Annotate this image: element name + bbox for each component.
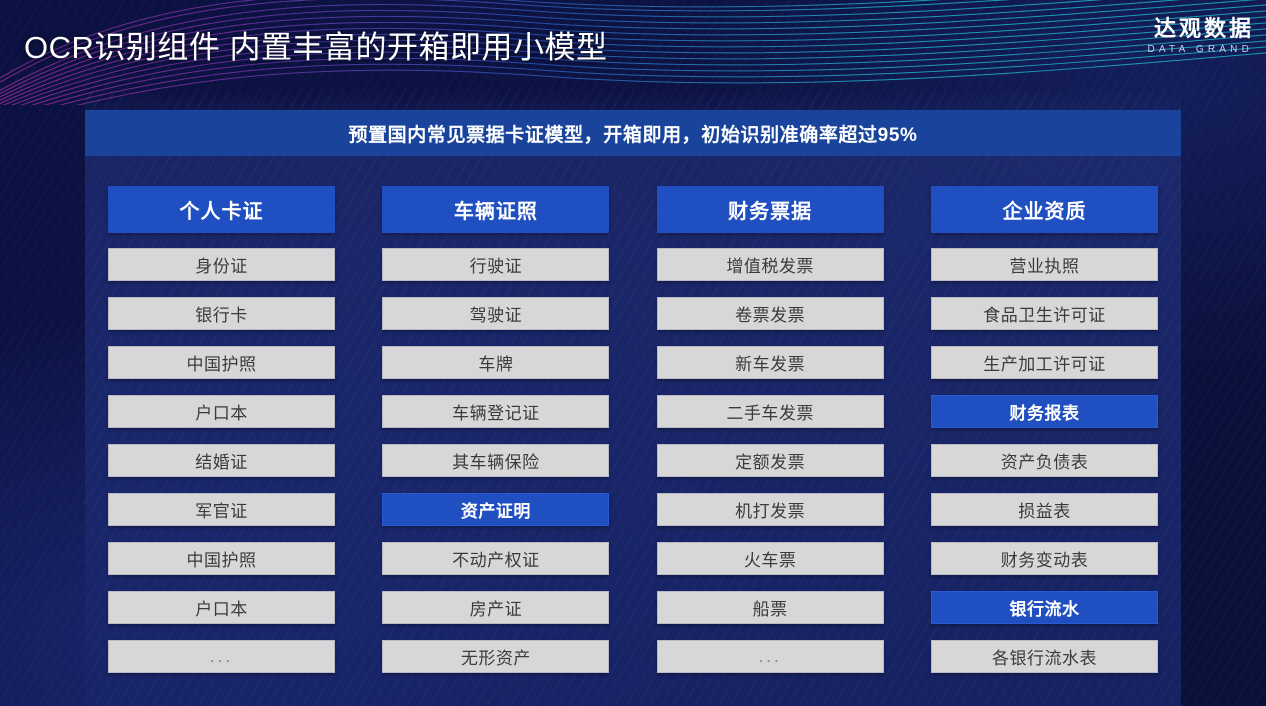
list-item[interactable]: 房产证 [382,591,609,624]
banner-headline: 预置国内常见票据卡证模型，开箱即用，初始识别准确率超过95% [85,110,1181,156]
brand-logo: 达观数据 DATA GRAND [1147,16,1254,55]
list-item[interactable]: 车牌 [382,346,609,379]
list-item-more[interactable]: ... [108,640,335,673]
list-item[interactable]: 船票 [657,591,884,624]
category-column-enterprise-qualifications: 企业资质 营业执照 食品卫生许可证 生产加工许可证 财务报表 资产负债表 损益表… [931,186,1158,689]
list-item[interactable]: 车辆登记证 [382,395,609,428]
list-item-selected[interactable]: 资产证明 [382,493,609,526]
column-header-vehicle-docs: 车辆证照 [382,186,609,233]
list-item[interactable]: 身份证 [108,248,335,281]
page-title: OCR识别组件 内置丰富的开箱即用小模型 [24,22,608,67]
list-item[interactable]: 各银行流水表 [931,640,1158,673]
list-item[interactable]: 户口本 [108,591,335,624]
list-item[interactable]: 二手车发票 [657,395,884,428]
list-item-more[interactable]: ... [657,640,884,673]
column-header-personal-cards: 个人卡证 [108,186,335,233]
category-column-personal-cards: 个人卡证 身份证 银行卡 中国护照 户口本 结婚证 军官证 中国护照 户口本 .… [108,186,335,689]
list-item[interactable]: 驾驶证 [382,297,609,330]
list-item-selected[interactable]: 财务报表 [931,395,1158,428]
category-column-financial-bills: 财务票据 增值税发票 卷票发票 新车发票 二手车发票 定额发票 机打发票 火车票… [657,186,884,689]
list-item[interactable]: 定额发票 [657,444,884,477]
list-item[interactable]: 无形资产 [382,640,609,673]
brand-logo-cn: 达观数据 [1147,16,1254,41]
list-item[interactable]: 军官证 [108,493,335,526]
list-item[interactable]: 损益表 [931,493,1158,526]
list-item[interactable]: 资产负债表 [931,444,1158,477]
slide-root: OCR识别组件 内置丰富的开箱即用小模型 达观数据 DATA GRAND 预置国… [0,0,1266,706]
list-item[interactable]: 新车发票 [657,346,884,379]
list-item[interactable]: 财务变动表 [931,542,1158,575]
list-item[interactable]: 结婚证 [108,444,335,477]
list-item[interactable]: 中国护照 [108,346,335,379]
list-item[interactable]: 户口本 [108,395,335,428]
list-item[interactable]: 其车辆保险 [382,444,609,477]
list-item-selected[interactable]: 银行流水 [931,591,1158,624]
list-item[interactable]: 机打发票 [657,493,884,526]
category-column-vehicle-docs: 车辆证照 行驶证 驾驶证 车牌 车辆登记证 其车辆保险 资产证明 不动产权证 房… [382,186,609,689]
list-item[interactable]: 行驶证 [382,248,609,281]
list-item[interactable]: 卷票发票 [657,297,884,330]
category-grid: 个人卡证 身份证 银行卡 中国护照 户口本 结婚证 军官证 中国护照 户口本 .… [85,186,1181,689]
list-item[interactable]: 增值税发票 [657,248,884,281]
content-panel: 预置国内常见票据卡证模型，开箱即用，初始识别准确率超过95% 个人卡证 身份证 … [85,92,1181,706]
column-header-financial-bills: 财务票据 [657,186,884,233]
column-header-enterprise-qualifications: 企业资质 [931,186,1158,233]
list-item[interactable]: 银行卡 [108,297,335,330]
list-item[interactable]: 营业执照 [931,248,1158,281]
list-item[interactable]: 火车票 [657,542,884,575]
brand-logo-en: DATA GRAND [1147,44,1253,55]
list-item[interactable]: 食品卫生许可证 [931,297,1158,330]
list-item[interactable]: 不动产权证 [382,542,609,575]
list-item[interactable]: 中国护照 [108,542,335,575]
list-item[interactable]: 生产加工许可证 [931,346,1158,379]
